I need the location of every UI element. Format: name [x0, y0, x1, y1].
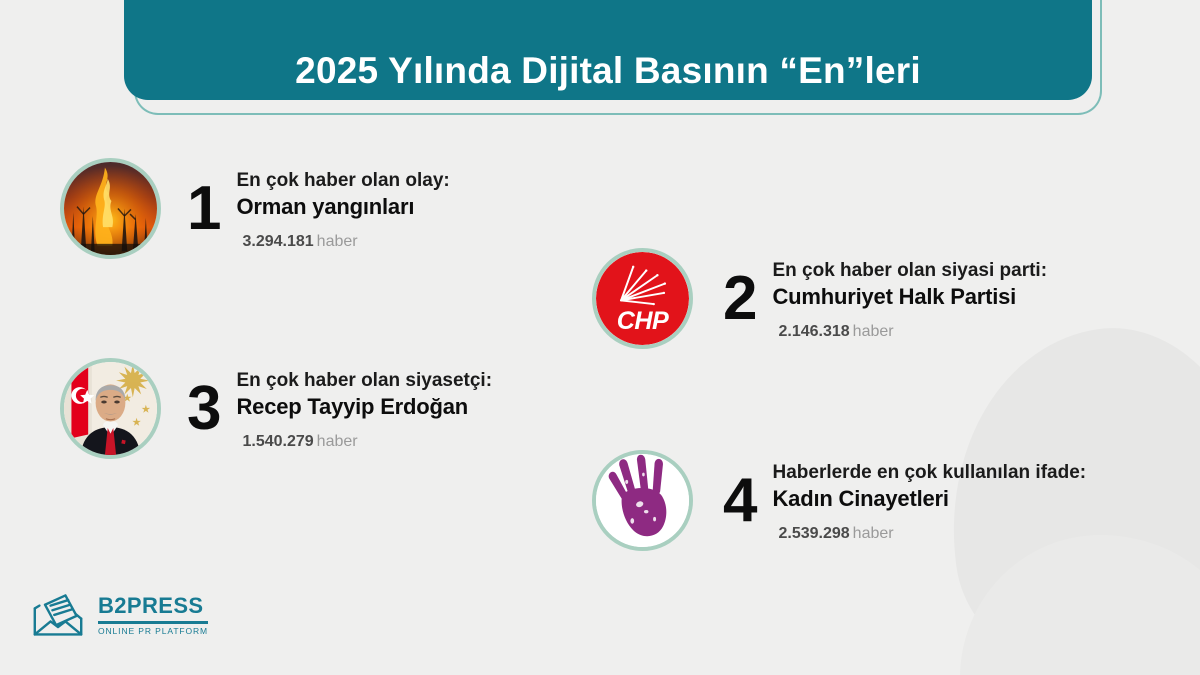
- item-count-number: 1.540.279: [242, 433, 313, 450]
- item-count: 2.539.298haber: [778, 524, 1086, 543]
- item-label-top: Haberlerde en çok kullanılan ifade:: [772, 460, 1086, 485]
- forest-fire-photo-icon: [60, 158, 161, 259]
- item-count-unit: haber: [853, 525, 894, 542]
- rank-number: 4: [723, 470, 756, 532]
- item-count-unit: haber: [853, 323, 894, 340]
- item-count: 1.540.279haber: [242, 432, 492, 451]
- item-label-top: En çok haber olan siyasetçi:: [236, 368, 492, 393]
- item-label-main: Orman yangınları: [236, 193, 449, 221]
- logo-name: B2PRESS: [98, 595, 208, 617]
- list-item: 4 Haberlerde en çok kullanılan ifade: Ka…: [592, 450, 1086, 551]
- politician-portrait-photo-icon: [60, 358, 161, 459]
- item-count: 2.146.318haber: [778, 322, 1047, 341]
- logo-text-block: B2PRESS ONLINE PR PLATFORM: [98, 593, 208, 636]
- svg-text:CHP: CHP: [617, 307, 669, 335]
- item-label-main: Kadın Cinayetleri: [772, 485, 1086, 513]
- item-count-number: 2.539.298: [778, 525, 849, 542]
- page-title: 2025 Yılında Dijital Basının “En”leri: [295, 51, 921, 92]
- list-item: CHP 2 En çok haber olan siyasi parti: Cu…: [592, 248, 1047, 349]
- purple-handprint-icon: [592, 450, 693, 551]
- header-banner: 2025 Yılında Dijital Basının “En”leri: [124, 0, 1102, 118]
- item-texts: En çok haber olan olay: Orman yangınları…: [236, 166, 449, 251]
- rank-number: 2: [723, 268, 756, 330]
- item-label-main: Recep Tayyip Erdoğan: [236, 393, 492, 421]
- item-texts: Haberlerde en çok kullanılan ifade: Kadı…: [772, 458, 1086, 543]
- brand-logo: B2PRESS ONLINE PR PLATFORM: [30, 588, 208, 640]
- item-texts: En çok haber olan siyasi parti: Cumhuriy…: [772, 256, 1047, 341]
- list-item: 3 En çok haber olan siyasetçi: Recep Tay…: [60, 358, 492, 459]
- envelope-letter-icon: [30, 588, 86, 640]
- item-count-unit: haber: [317, 233, 358, 250]
- rank-number: 3: [187, 378, 220, 440]
- item-label-main: Cumhuriyet Halk Partisi: [772, 283, 1047, 311]
- background-blob-bottom: [960, 535, 1200, 675]
- item-count-number: 2.146.318: [778, 323, 849, 340]
- logo-subtitle: ONLINE PR PLATFORM: [98, 627, 208, 636]
- banner-fill: 2025 Yılında Dijital Basının “En”leri: [124, 0, 1092, 100]
- logo-divider: [98, 621, 208, 624]
- chp-logo-icon: CHP: [592, 248, 693, 349]
- rank-number: 1: [187, 178, 220, 240]
- item-count: 3.294.181haber: [242, 232, 449, 251]
- item-count-number: 3.294.181: [242, 233, 313, 250]
- item-count-unit: haber: [317, 433, 358, 450]
- list-item: 1 En çok haber olan olay: Orman yangınla…: [60, 158, 450, 259]
- item-label-top: En çok haber olan olay:: [236, 168, 449, 193]
- item-label-top: En çok haber olan siyasi parti:: [772, 258, 1047, 283]
- item-texts: En çok haber olan siyasetçi: Recep Tayyi…: [236, 366, 492, 451]
